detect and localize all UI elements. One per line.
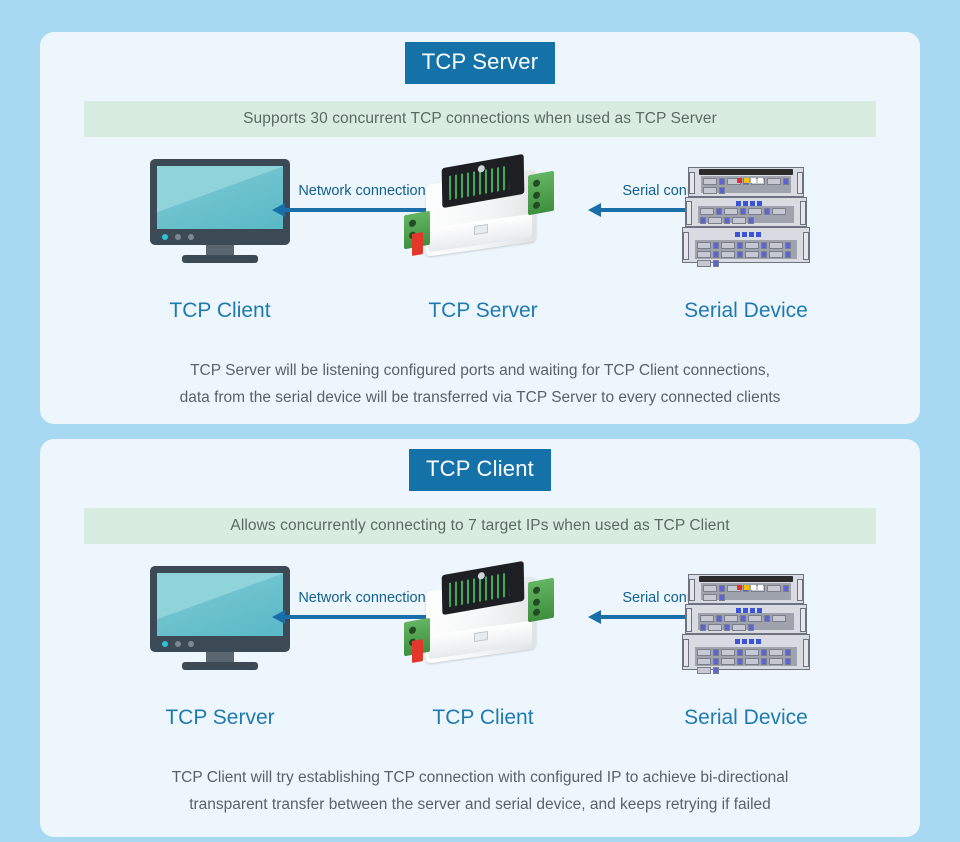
node-label-middle: TCP Client <box>358 706 608 730</box>
badge-row: TCP Client <box>40 439 920 491</box>
page-root: TCP Server Supports 30 concurrent TCP co… <box>0 0 960 842</box>
monitor-icon <box>150 159 290 263</box>
panel-description: TCP Client will try establishing TCP con… <box>40 764 920 818</box>
node-label-left: TCP Server <box>100 706 340 730</box>
description-line: transparent transfer between the server … <box>90 791 870 818</box>
panel-title-badge: TCP Server <box>405 42 556 84</box>
diagram: Network connection Serial connection <box>40 155 920 285</box>
badge-row: TCP Server <box>40 32 920 84</box>
node-label-left: TCP Client <box>100 299 340 323</box>
description-line: data from the serial device will be tran… <box>90 384 870 411</box>
panel-banner-text: Allows concurrently connecting to 7 targ… <box>230 517 729 535</box>
monitor-icon <box>150 566 290 670</box>
node-labels: TCP Client TCP Server Serial Device <box>40 299 920 335</box>
panel-title-badge: TCP Client <box>409 449 551 491</box>
panel-banner-text: Supports 30 concurrent TCP connections w… <box>243 110 717 128</box>
panel-description: TCP Server will be listening configured … <box>40 357 920 411</box>
node-right <box>626 562 866 670</box>
node-labels: TCP Server TCP Client Serial Device <box>40 706 920 742</box>
din-rail-converter-icon <box>398 155 568 263</box>
description-line: TCP Client will try establishing TCP con… <box>90 764 870 791</box>
node-label-middle: TCP Server <box>358 299 608 323</box>
node-label-right: Serial Device <box>626 706 866 730</box>
description-line: TCP Server will be listening configured … <box>90 357 870 384</box>
diagram: Network connection Serial connection <box>40 562 920 692</box>
panel-tcp-client: TCP Client Allows concurrently connectin… <box>40 439 920 837</box>
node-right <box>626 155 866 263</box>
server-rack-icon <box>682 167 810 263</box>
node-middle <box>358 155 608 263</box>
panel-banner: Allows concurrently connecting to 7 targ… <box>84 508 876 544</box>
din-rail-converter-icon <box>398 562 568 670</box>
panel-tcp-server: TCP Server Supports 30 concurrent TCP co… <box>40 32 920 424</box>
node-label-right: Serial Device <box>626 299 866 323</box>
server-rack-icon <box>682 574 810 670</box>
panel-banner: Supports 30 concurrent TCP connections w… <box>84 101 876 137</box>
node-middle <box>358 562 608 670</box>
